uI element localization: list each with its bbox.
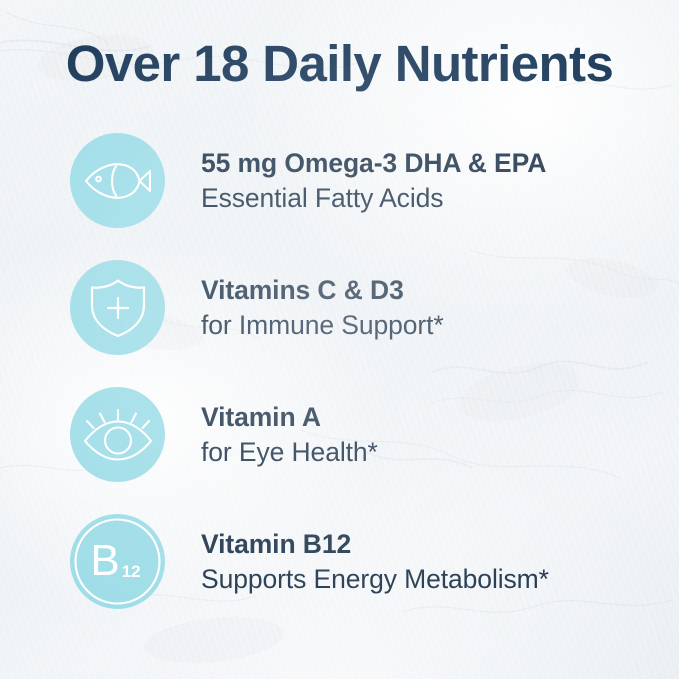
list-item-subtitle: for Eye Health* bbox=[201, 435, 378, 470]
eye-icon-badge bbox=[70, 387, 165, 482]
list-item: Vitamins C & D3 for Immune Support* bbox=[70, 260, 670, 355]
list-item-title: 55 mg Omega-3 DHA & EPA bbox=[201, 146, 546, 181]
list-item-subtitle: Essential Fatty Acids bbox=[201, 181, 546, 216]
list-item-text: Vitamins C & D3 for Immune Support* bbox=[201, 273, 444, 343]
page-title: Over 18 Daily Nutrients bbox=[0, 36, 679, 92]
list-item: B 12 Vitamin B12 Supports Energy Metabol… bbox=[70, 514, 670, 609]
b12-glyph: B 12 bbox=[70, 514, 165, 609]
list-item: Vitamin A for Eye Health* bbox=[70, 387, 670, 482]
list-item-text: Vitamin A for Eye Health* bbox=[201, 400, 378, 470]
nutrient-list: 55 mg Omega-3 DHA & EPA Essential Fatty … bbox=[70, 133, 670, 641]
list-item-text: 55 mg Omega-3 DHA & EPA Essential Fatty … bbox=[201, 146, 546, 216]
shield-plus-icon-badge bbox=[70, 260, 165, 355]
nutrients-infographic: Over 18 Daily Nutrients 55 mg Omega-3 DH… bbox=[0, 0, 679, 679]
list-item-text: Vitamin B12 Supports Energy Metabolism* bbox=[201, 527, 549, 597]
list-item-title: Vitamin B12 bbox=[201, 527, 549, 562]
eye-icon bbox=[82, 408, 154, 462]
list-item-title: Vitamin A bbox=[201, 400, 378, 435]
list-item-subtitle: Supports Energy Metabolism* bbox=[201, 562, 549, 597]
fish-icon-badge bbox=[70, 133, 165, 228]
b12-letter: B bbox=[90, 539, 119, 583]
list-item-subtitle: for Immune Support* bbox=[201, 308, 444, 343]
list-item: 55 mg Omega-3 DHA & EPA Essential Fatty … bbox=[70, 133, 670, 228]
shield-plus-icon bbox=[89, 278, 147, 338]
fish-icon bbox=[82, 157, 154, 205]
b12-icon-badge: B 12 bbox=[70, 514, 165, 609]
list-item-title: Vitamins C & D3 bbox=[201, 273, 444, 308]
b12-subscript: 12 bbox=[122, 563, 141, 580]
